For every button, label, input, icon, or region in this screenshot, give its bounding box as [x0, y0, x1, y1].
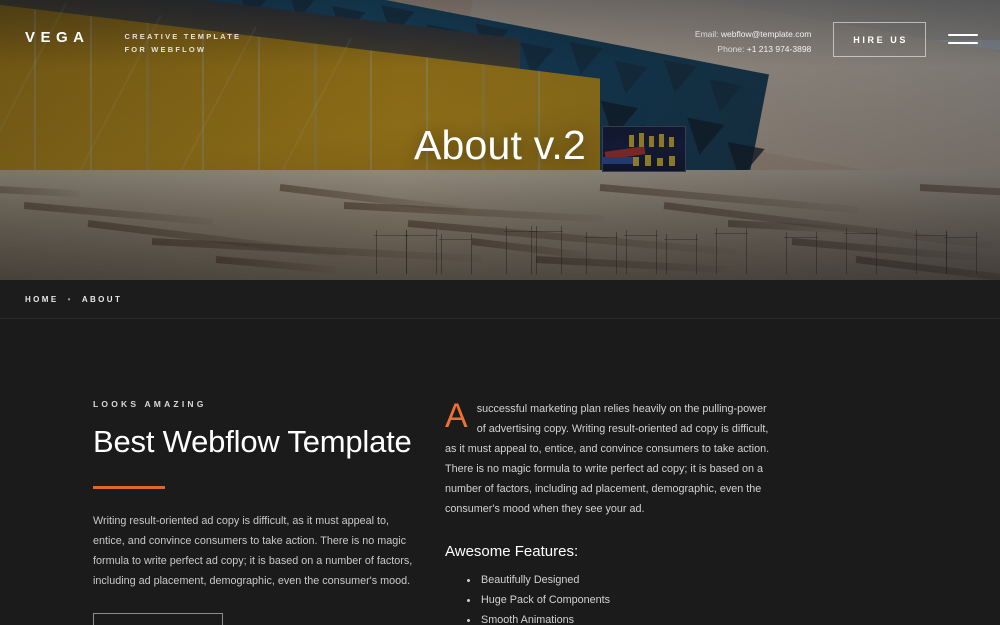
phone-value[interactable]: +1 213 974-3898 — [747, 44, 812, 54]
intro-paragraph-text: successful marketing plan relies heavily… — [445, 403, 769, 515]
email-value[interactable]: webflow@template.com — [721, 29, 811, 39]
email-label: Email: — [695, 29, 719, 39]
phone-label: Phone: — [717, 44, 744, 54]
features-list: Beautifully Designed Huge Pack of Compon… — [445, 571, 850, 625]
section-heading: Best Webflow Template — [93, 425, 430, 460]
site-logo[interactable]: VEGA — [25, 26, 90, 45]
contact-info: Email: webflow@template.com Phone: +1 21… — [695, 26, 811, 57]
list-item: Huge Pack of Components — [467, 591, 850, 610]
breadcrumb-item-home[interactable]: HOME — [25, 295, 59, 304]
list-item: Beautifully Designed — [467, 571, 850, 590]
contact-email-row[interactable]: Email: webflow@template.com — [695, 27, 811, 42]
intro-paragraph: Asuccessful marketing plan relies heavil… — [445, 399, 775, 519]
site-tagline: CREATIVE TEMPLATE FOR WEBFLOW — [125, 26, 242, 56]
hamburger-line-2 — [948, 42, 978, 44]
breadcrumb-separator-icon: • — [68, 295, 73, 304]
right-column: Asuccessful marketing plan relies heavil… — [430, 399, 850, 625]
left-paragraph: Writing result-oriented ad copy is diffi… — [93, 511, 423, 591]
main-content: LOOKS AMAZING Best Webflow Template Writ… — [0, 319, 1000, 625]
breadcrumb: HOME • ABOUT — [25, 295, 122, 304]
breadcrumb-item-about: ABOUT — [82, 295, 122, 304]
tagline-line-1: CREATIVE TEMPLATE — [125, 30, 242, 43]
left-column: LOOKS AMAZING Best Webflow Template Writ… — [0, 399, 430, 625]
top-navigation-bar: VEGA CREATIVE TEMPLATE FOR WEBFLOW Email… — [0, 0, 1000, 70]
list-item: Smooth Animations — [467, 611, 850, 625]
hero-section: VEGA CREATIVE TEMPLATE FOR WEBFLOW Email… — [0, 0, 1000, 280]
hamburger-menu-icon[interactable] — [948, 34, 978, 44]
drop-cap: A — [445, 399, 477, 431]
hire-us-button[interactable]: HIRE US — [833, 22, 926, 57]
accent-divider — [93, 486, 165, 489]
breadcrumb-bar: HOME • ABOUT — [0, 280, 1000, 319]
tagline-line-2: FOR WEBFLOW — [125, 43, 242, 56]
section-eyebrow: LOOKS AMAZING — [93, 399, 430, 409]
page-title: About v.2 — [0, 122, 1000, 169]
features-heading: Awesome Features: — [445, 543, 850, 560]
hamburger-line-1 — [948, 34, 978, 36]
contact-phone-row[interactable]: Phone: +1 213 974-3898 — [695, 42, 811, 57]
contact-us-button[interactable]: CONTACT US — [93, 613, 223, 625]
